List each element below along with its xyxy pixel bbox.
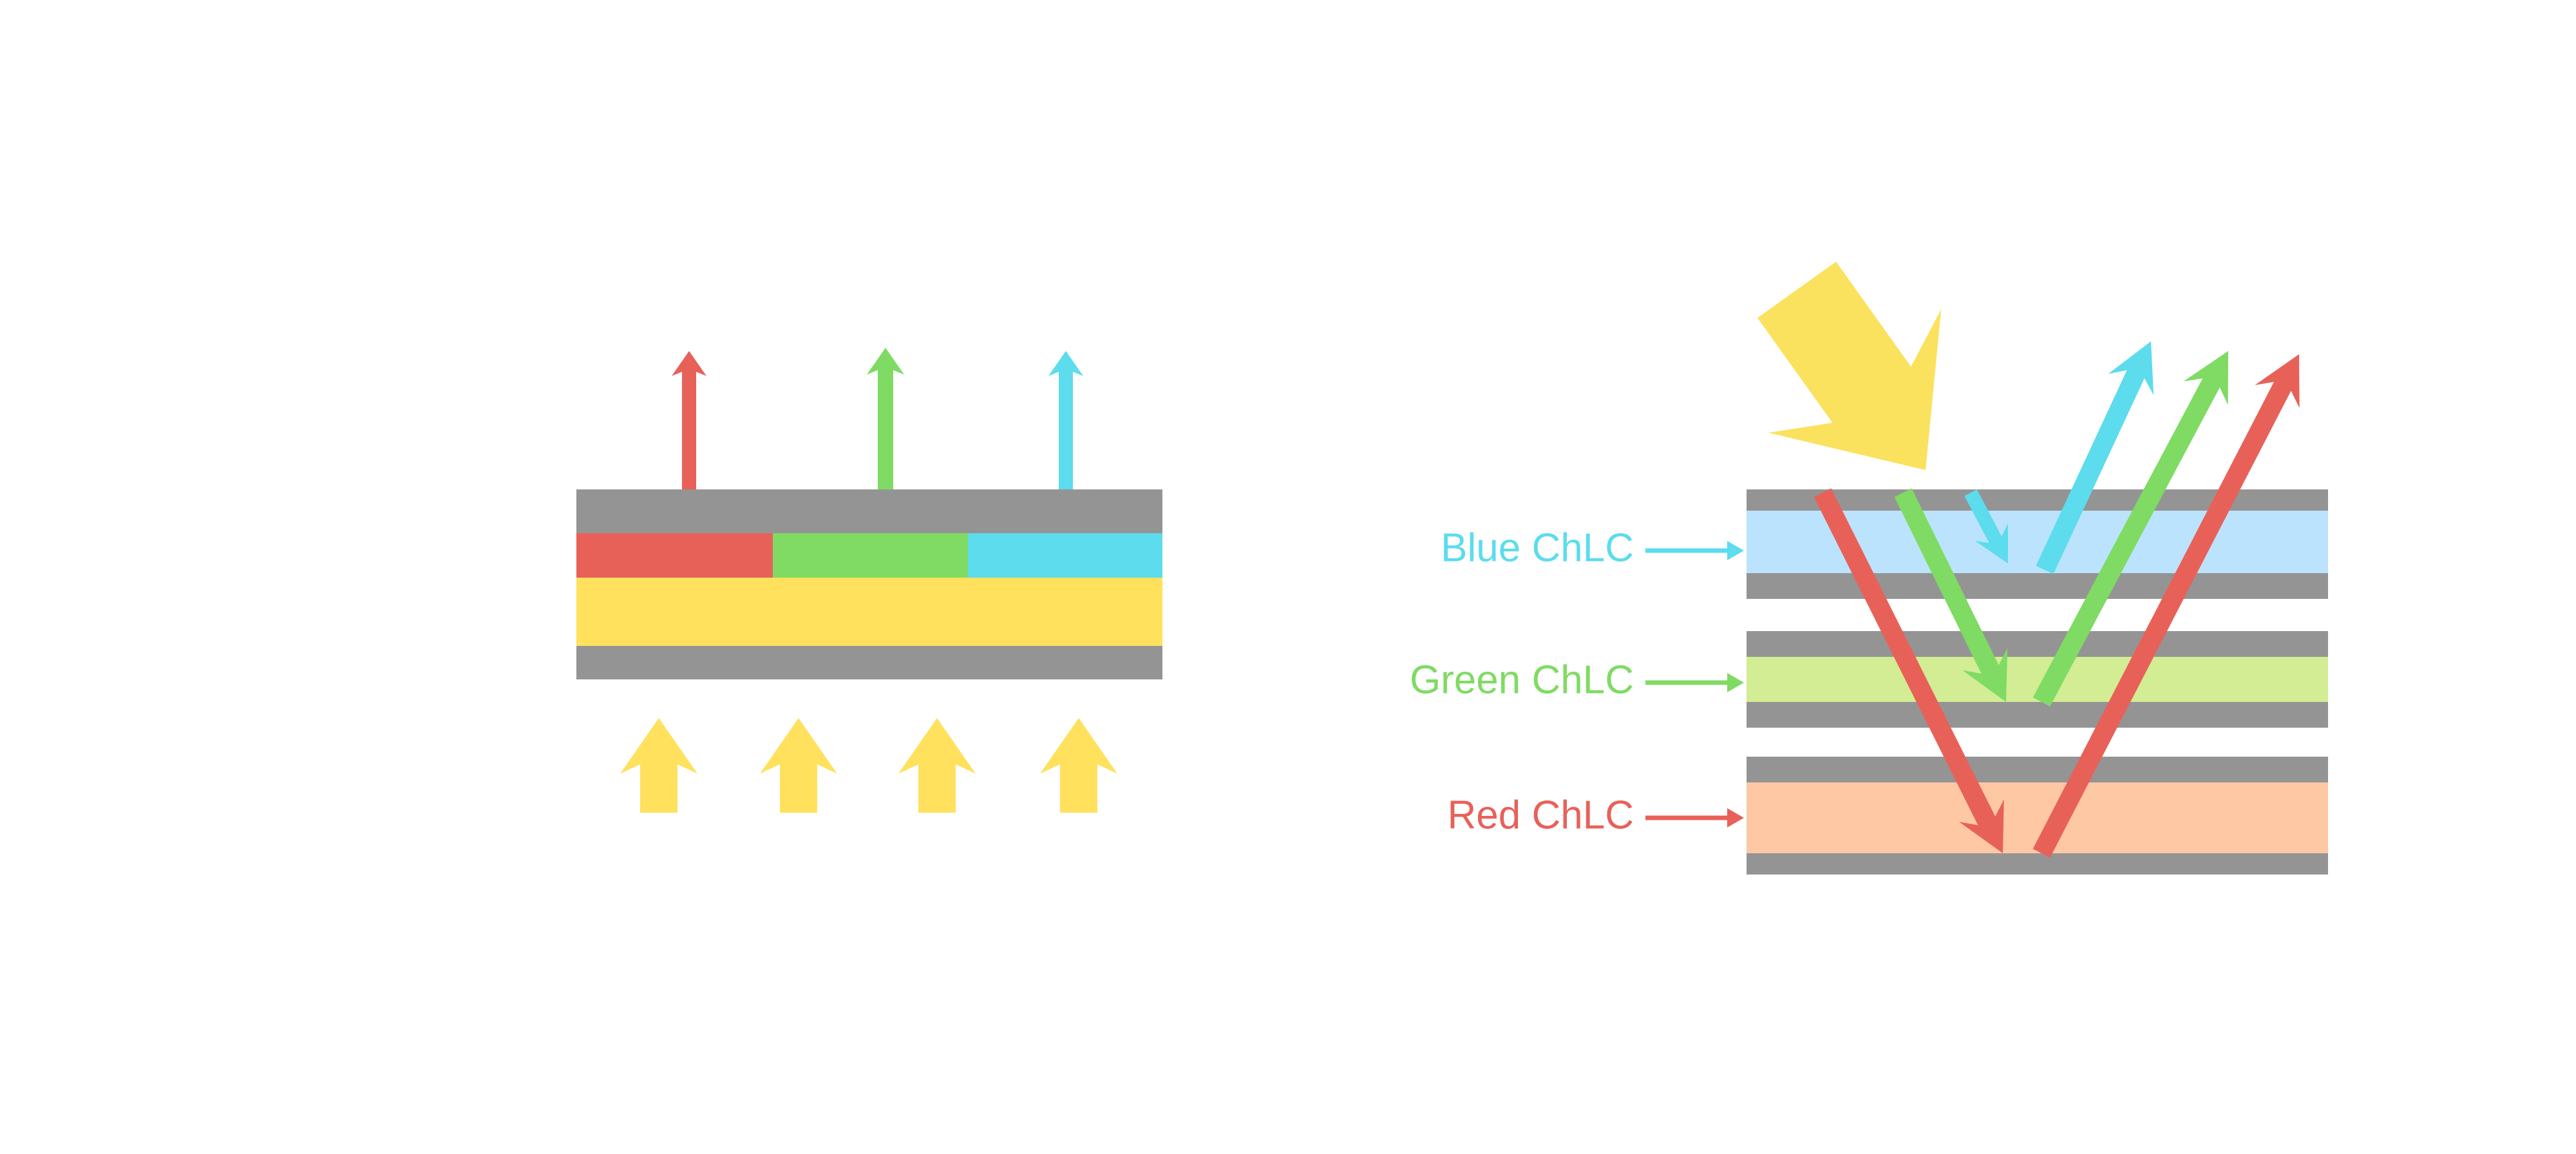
- diagram-canvas: Blue ChLCGreen ChLCRed ChLC: [0, 0, 2576, 1154]
- blue-chlc-label: Blue ChLC: [1441, 525, 1634, 570]
- right-device-stack: [1747, 489, 2328, 875]
- left-stack-layer-bottom-electrode: [576, 646, 1162, 679]
- right-stack-layer-red-bottom-electrode: [1747, 853, 2328, 875]
- right-stack-layer-blue-bottom-electrode: [1747, 573, 2328, 599]
- left-device-stack: [576, 489, 1162, 679]
- left-stack-layer-top-electrode: [576, 489, 1162, 533]
- right-stack-layer-green-bottom-electrode: [1747, 702, 2328, 728]
- red-chlc-label: Red ChLC: [1448, 793, 1634, 837]
- green-chlc-label: Green ChLC: [1410, 657, 1634, 702]
- chlc-display-diagram: Blue ChLCGreen ChLCRed ChLC: [0, 0, 2576, 1154]
- left-stack-layer-backlight-layer: [576, 578, 1162, 646]
- left-stack-layer-red-pixel: [576, 533, 773, 578]
- left-stack-layer-green-pixel: [773, 533, 968, 578]
- right-stack-layer-red-top-electrode: [1747, 757, 2328, 782]
- left-stack-layer-blue-pixel: [968, 533, 1162, 578]
- right-stack-layer-green-top-electrode: [1747, 631, 2328, 657]
